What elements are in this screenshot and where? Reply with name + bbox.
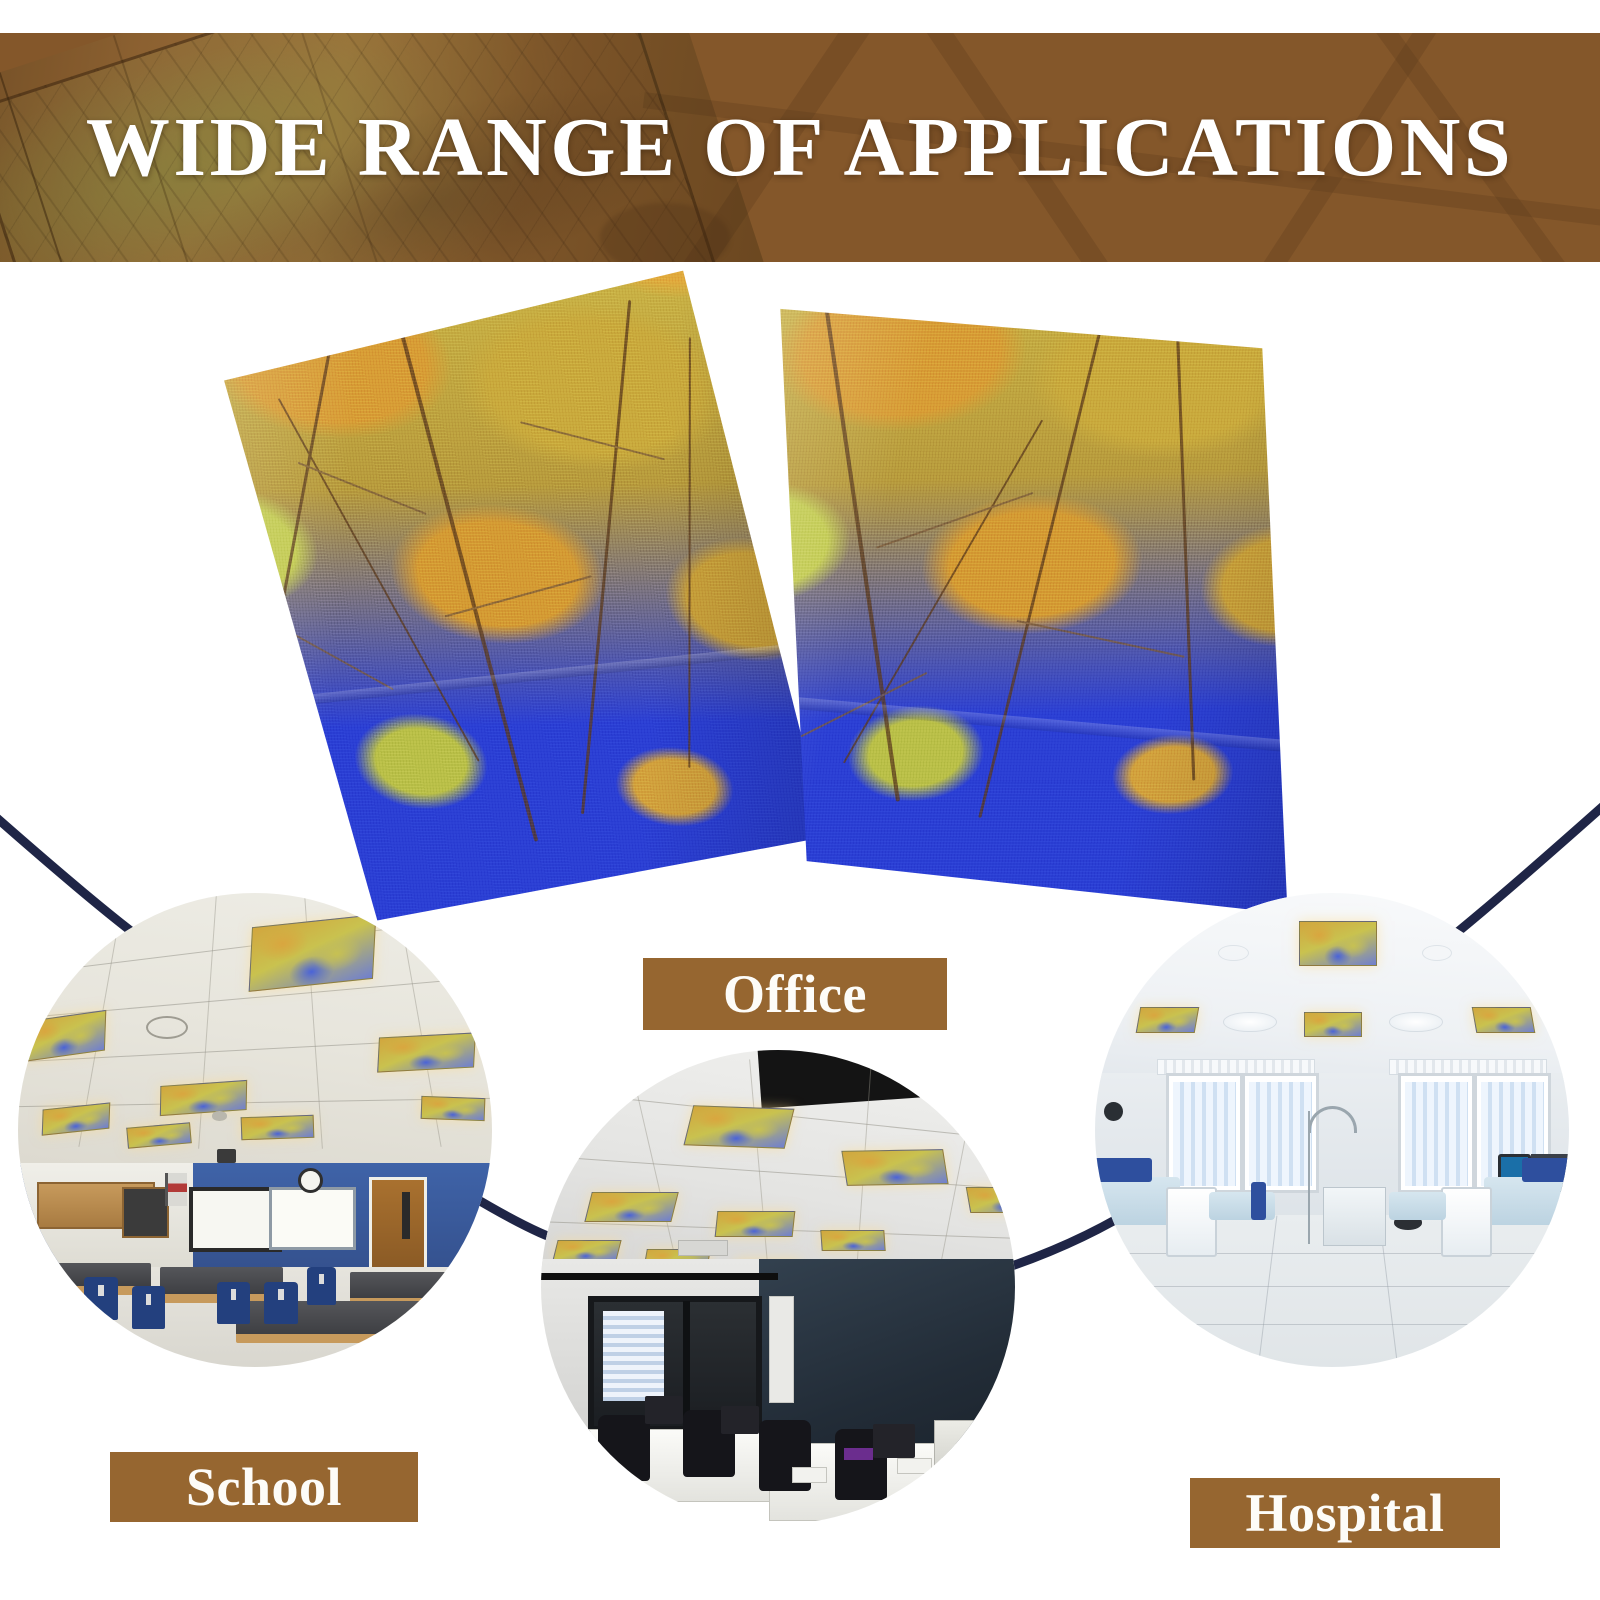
ceiling-light-panel: [377, 1033, 476, 1073]
medical-trolley: [1323, 1187, 1387, 1246]
ceiling-light-panel: [1472, 1007, 1535, 1033]
chair: [84, 1277, 117, 1320]
ceiling-light-panel: [240, 1114, 314, 1140]
shelf-unit: [122, 1187, 169, 1238]
infographic-canvas: WIDE RANGE OF APPLICATIONS: [0, 0, 1600, 1600]
hospital-bed: [1389, 1192, 1446, 1220]
bed-headboard: [1522, 1158, 1569, 1182]
chair: [307, 1267, 335, 1305]
chair: [264, 1282, 297, 1325]
ceiling-speaker-icon: [1218, 945, 1248, 961]
monitor: [645, 1396, 683, 1424]
telephone: [897, 1458, 932, 1474]
ceiling-light-panel: [1304, 1012, 1363, 1038]
smoke-detector-icon: [212, 1111, 226, 1120]
flag-icon: [165, 1173, 187, 1206]
telephone: [792, 1467, 827, 1483]
ceiling-light-panel: [683, 1105, 794, 1148]
ceiling-light-panel: [585, 1192, 680, 1222]
chair: [37, 1310, 75, 1357]
ceiling-light-panel: [820, 1230, 885, 1251]
application-photo-school[interactable]: [18, 893, 492, 1367]
hospital-bed: [1484, 1177, 1569, 1224]
ceiling-light-panel: [553, 1240, 622, 1261]
whiteboard: [269, 1187, 356, 1250]
office-door: [769, 1296, 795, 1402]
ceiling-light-panel: [421, 1096, 485, 1122]
ceiling-light-panel: [965, 1187, 1015, 1213]
ceiling-light-panel: [1299, 921, 1377, 966]
wall-clock-icon: [298, 1168, 323, 1193]
ceiling-light-panel: [1135, 1007, 1198, 1033]
window-with-blinds: [1166, 1073, 1243, 1193]
monitor: [873, 1424, 916, 1457]
bed-rail-blue: [1251, 1182, 1265, 1220]
ceiling-light-panel: [160, 1079, 248, 1116]
desk-folder: [844, 1448, 872, 1460]
window-mullion: [683, 1301, 690, 1420]
ceiling-light-panel: [842, 1149, 949, 1186]
classroom-scene: [18, 893, 492, 1367]
chair: [132, 1286, 165, 1329]
application-photo-office[interactable]: [541, 1050, 1015, 1524]
monitor: [721, 1406, 759, 1434]
bed-headboard: [1095, 1158, 1152, 1182]
application-photo-hospital[interactable]: [1095, 893, 1569, 1367]
window-with-blinds: [1398, 1073, 1475, 1193]
chair: [435, 1291, 468, 1334]
label-chip-school: School: [110, 1452, 418, 1522]
office-scene: [541, 1050, 1015, 1524]
ceiling-light-panel: [715, 1211, 796, 1237]
bed-siderail: [1441, 1187, 1492, 1257]
ceiling-vent-icon: [146, 1016, 188, 1039]
door-window: [402, 1192, 410, 1239]
projector-icon: [217, 1149, 236, 1163]
window-blinds: [603, 1311, 665, 1401]
classroom-door: [369, 1177, 427, 1273]
ceiling-vent-icon: [678, 1240, 727, 1256]
office-chair: [598, 1415, 650, 1481]
chair: [217, 1282, 250, 1325]
ceiling-trim: [541, 1273, 778, 1281]
projection-screen: [189, 1187, 282, 1252]
printer: [934, 1420, 1002, 1479]
label-chip-office: Office: [643, 958, 947, 1030]
label-chip-hospital: Hospital: [1190, 1478, 1500, 1548]
wall-outlet-icon: [1104, 1102, 1123, 1121]
hospital-ward-scene: [1095, 893, 1569, 1367]
